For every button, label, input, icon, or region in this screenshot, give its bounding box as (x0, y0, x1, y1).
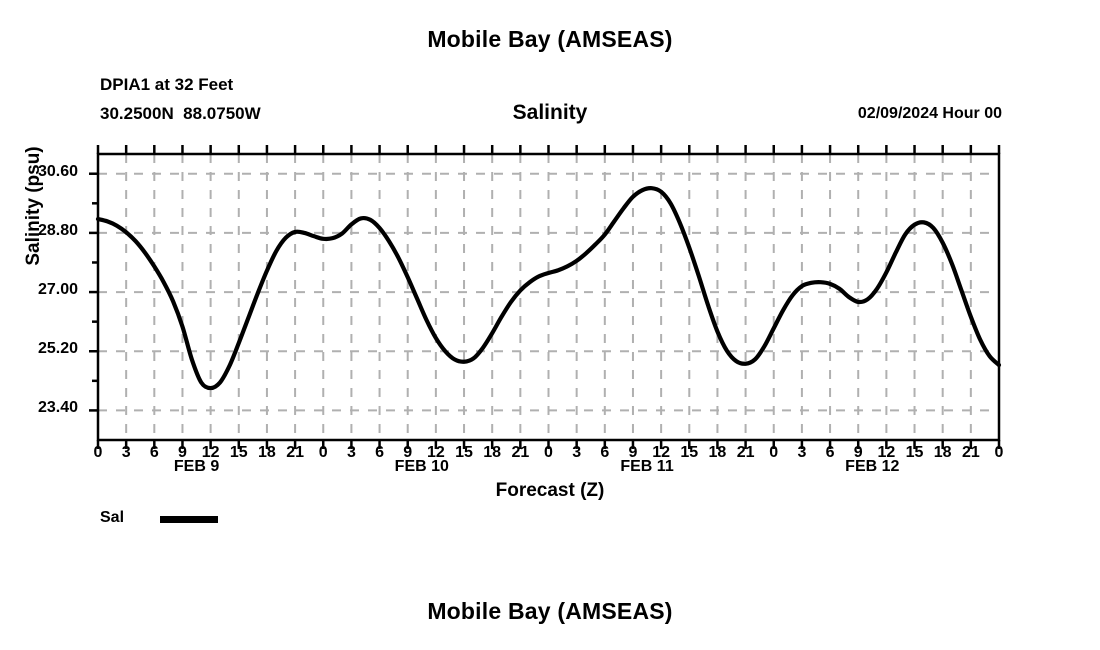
page-title-bottom: Mobile Bay (AMSEAS) (0, 598, 1100, 625)
y-tick-label: 23.40 (0, 399, 78, 417)
plot-area (0, 0, 1100, 650)
y-tick-label: 30.60 (0, 163, 78, 181)
day-label: FEB 9 (137, 458, 257, 476)
legend-line-swatch (160, 516, 218, 523)
y-tick-label: 27.00 (0, 281, 78, 299)
day-label: FEB 11 (587, 458, 707, 476)
day-label: FEB 12 (812, 458, 932, 476)
x-gridlines (126, 154, 971, 440)
y-tick-label: 28.80 (0, 222, 78, 240)
chart-canvas: Mobile Bay (AMSEAS) DPIA1 at 32 Feet 30.… (0, 0, 1100, 650)
legend-label: Sal (100, 509, 124, 527)
day-label: FEB 10 (362, 458, 482, 476)
x-tick-label: 0 (979, 444, 1019, 462)
y-tick-label: 25.20 (0, 340, 78, 358)
